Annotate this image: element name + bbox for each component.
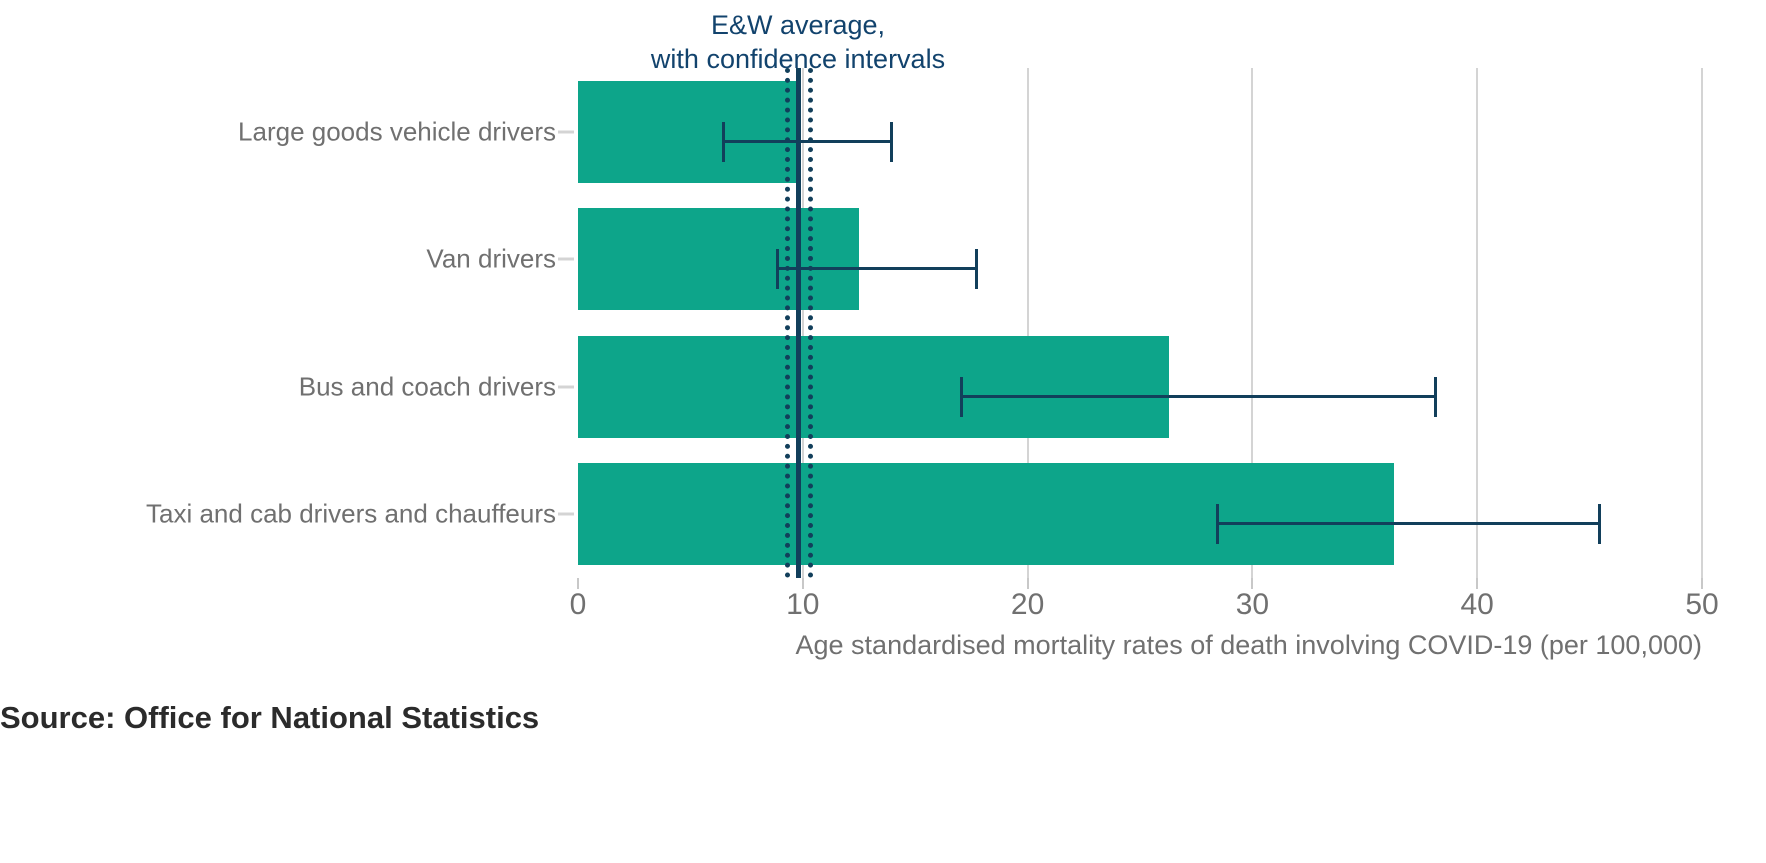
error-cap-upper [975,249,978,289]
y-axis-tick [558,513,574,516]
x-axis-tick-label: 10 [786,588,819,622]
error-cap-lower [722,122,725,162]
source-note: Source: Office for National Statistics [0,700,539,736]
bar-row[interactable] [578,336,1702,438]
bar[interactable] [578,208,859,310]
bar-row[interactable] [578,463,1702,565]
y-axis-label: Taxi and cab drivers and chauffeurs [146,499,556,530]
reference-ci-upper-line [808,68,813,578]
error-cap-lower [1216,504,1219,544]
x-axis-tick-label: 40 [1461,588,1494,622]
y-axis-labels: Large goods vehicle driversVan driversBu… [0,68,578,578]
bar[interactable] [578,81,801,183]
y-axis-tick [558,258,574,261]
x-axis-title: Age standardised mortality rates of deat… [578,630,1702,661]
plot-area [578,68,1702,578]
y-axis-label: Bus and coach drivers [299,371,556,402]
error-cap-lower [960,377,963,417]
reference-ci-lower-line [785,68,790,578]
error-cap-upper [890,122,893,162]
chart-page: E&W average, with confidence intervals L… [0,0,1766,863]
y-axis-label: Large goods vehicle drivers [238,116,556,147]
bar-row[interactable] [578,208,1702,310]
error-bar [960,395,1437,398]
x-axis: 01020304050 [578,578,1702,638]
error-cap-lower [776,249,779,289]
bar[interactable] [578,336,1169,438]
reference-average-line [796,68,801,578]
error-cap-upper [1598,504,1601,544]
x-axis-tick-label: 30 [1236,588,1269,622]
y-axis-tick [558,130,574,133]
x-axis-tick-label: 50 [1685,588,1718,622]
average-annotation-label: E&W average, with confidence intervals [378,8,1218,76]
error-bar [776,267,978,270]
x-axis-tick-label: 0 [570,588,587,622]
error-bar [1216,522,1600,525]
bar-row[interactable] [578,81,1702,183]
x-axis-tick-label: 20 [1011,588,1044,622]
bar[interactable] [578,463,1394,565]
y-axis-tick [558,385,574,388]
y-axis-label: Van drivers [426,244,556,275]
error-cap-upper [1434,377,1437,417]
